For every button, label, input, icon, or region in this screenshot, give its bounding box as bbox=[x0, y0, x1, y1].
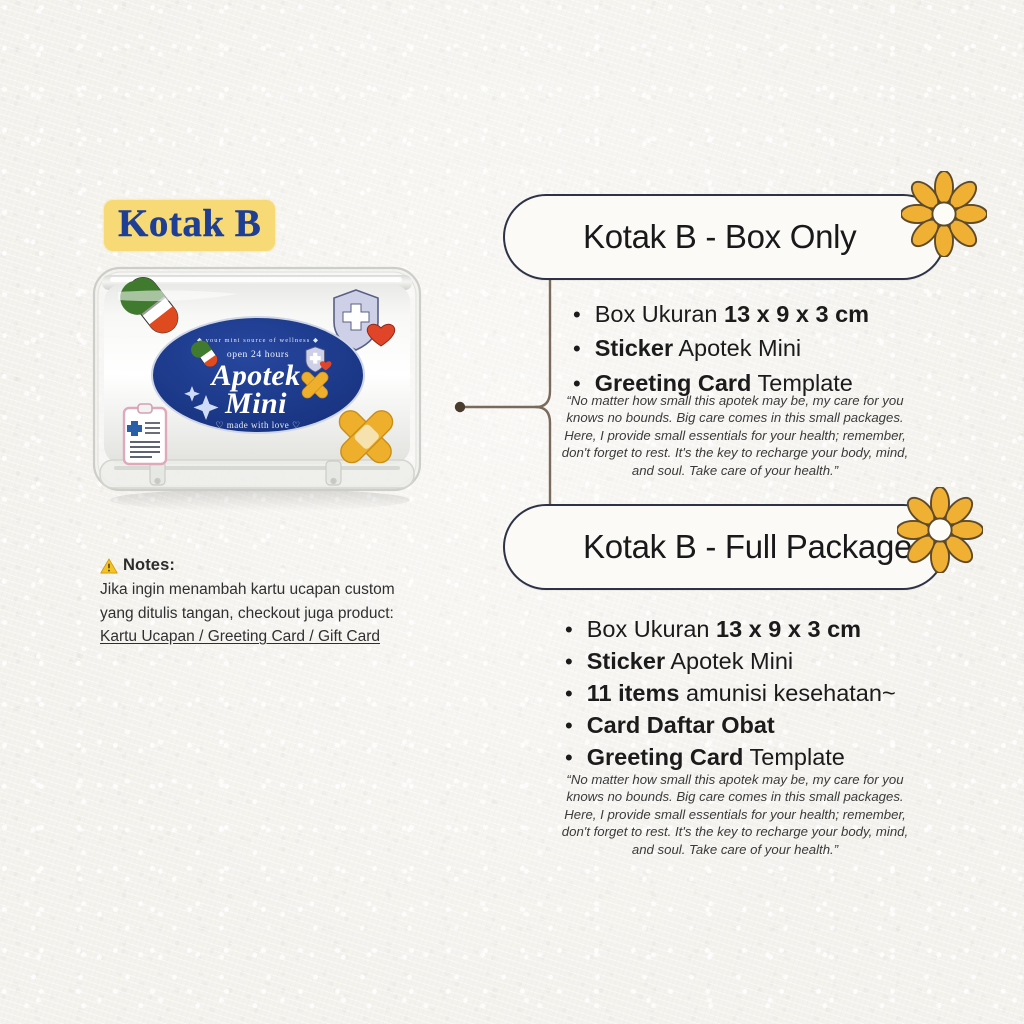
feature-list-box-only: Box Ukuran 13 x 9 x 3 cmSticker Apotek M… bbox=[573, 297, 869, 400]
product-photo-illustration: ◆ your mini source of wellness ◆ open 24… bbox=[88, 262, 426, 512]
section-title-full-package: Kotak B - Full Package bbox=[505, 528, 912, 566]
oval-bottom-tagline: ♡ made with love ♡ bbox=[215, 420, 300, 430]
list-item: Sticker Apotek Mini bbox=[573, 331, 869, 365]
list-item-emphasis: 13 x 9 x 3 cm bbox=[724, 301, 869, 327]
greeting-card-link[interactable]: Kartu Ucapan / Greeting Card / Gift Card bbox=[100, 625, 380, 649]
list-item-emphasis: 13 x 9 x 3 cm bbox=[716, 616, 861, 642]
feature-list-full-package: Box Ukuran 13 x 9 x 3 cmSticker Apotek M… bbox=[565, 614, 896, 774]
section-header-full-package[interactable]: Kotak B - Full Package bbox=[503, 504, 946, 590]
connector-line bbox=[440, 255, 570, 525]
notes-block: Notes: Jika ingin menambah kartu ucapan … bbox=[100, 556, 420, 649]
notes-heading: Notes: bbox=[100, 556, 420, 575]
notes-line-2: yang ditulis tangan, checkout juga produ… bbox=[100, 602, 420, 626]
list-item-text: Apotek Mini bbox=[673, 335, 801, 361]
list-item: Sticker Apotek Mini bbox=[565, 646, 896, 678]
warning-triangle-icon bbox=[100, 557, 118, 575]
list-item-emphasis: Card Daftar Obat bbox=[587, 712, 775, 738]
section-quote-box-only: “No matter how small this apotek may be,… bbox=[551, 392, 919, 479]
list-item-emphasis: Sticker bbox=[595, 335, 673, 361]
page-title: Kotak B bbox=[104, 200, 275, 251]
daisy-flower-icon bbox=[901, 171, 987, 257]
list-item-emphasis: Sticker bbox=[587, 648, 665, 674]
list-item-emphasis: 11 items bbox=[587, 680, 680, 706]
list-item-text: Apotek Mini bbox=[665, 648, 793, 674]
list-item: 11 items amunisi kesehatan~ bbox=[565, 678, 896, 710]
list-item-text: Box Ukuran bbox=[595, 301, 724, 327]
section-title-box-only: Kotak B - Box Only bbox=[505, 218, 856, 256]
list-item-text: Box Ukuran bbox=[587, 616, 716, 642]
list-item: Box Ukuran 13 x 9 x 3 cm bbox=[573, 297, 869, 331]
notes-heading-label: Notes: bbox=[123, 556, 175, 575]
list-item-text: amunisi kesehatan~ bbox=[679, 680, 895, 706]
apotek-mini-oval-label: ◆ your mini source of wellness ◆ open 24… bbox=[152, 317, 364, 433]
list-item: Greeting Card Template bbox=[565, 742, 896, 774]
connector-dot bbox=[455, 402, 465, 412]
notes-line-1: Jika ingin menambah kartu ucapan custom bbox=[100, 578, 420, 602]
oval-brand-line-2: Mini bbox=[224, 387, 287, 420]
list-item: Box Ukuran 13 x 9 x 3 cm bbox=[565, 614, 896, 646]
clipboard-prescription-sticker bbox=[124, 404, 166, 464]
section-header-box-only[interactable]: Kotak B - Box Only bbox=[503, 194, 946, 280]
product-photo: ◆ your mini source of wellness ◆ open 24… bbox=[88, 262, 426, 512]
list-item-emphasis: Greeting Card bbox=[587, 744, 744, 770]
oval-top-tagline: ◆ your mini source of wellness ◆ bbox=[197, 337, 319, 344]
list-item-text: Template bbox=[743, 744, 844, 770]
list-item: Card Daftar Obat bbox=[565, 710, 896, 742]
daisy-flower-icon bbox=[897, 487, 983, 573]
section-quote-full-package: “No matter how small this apotek may be,… bbox=[551, 771, 919, 858]
